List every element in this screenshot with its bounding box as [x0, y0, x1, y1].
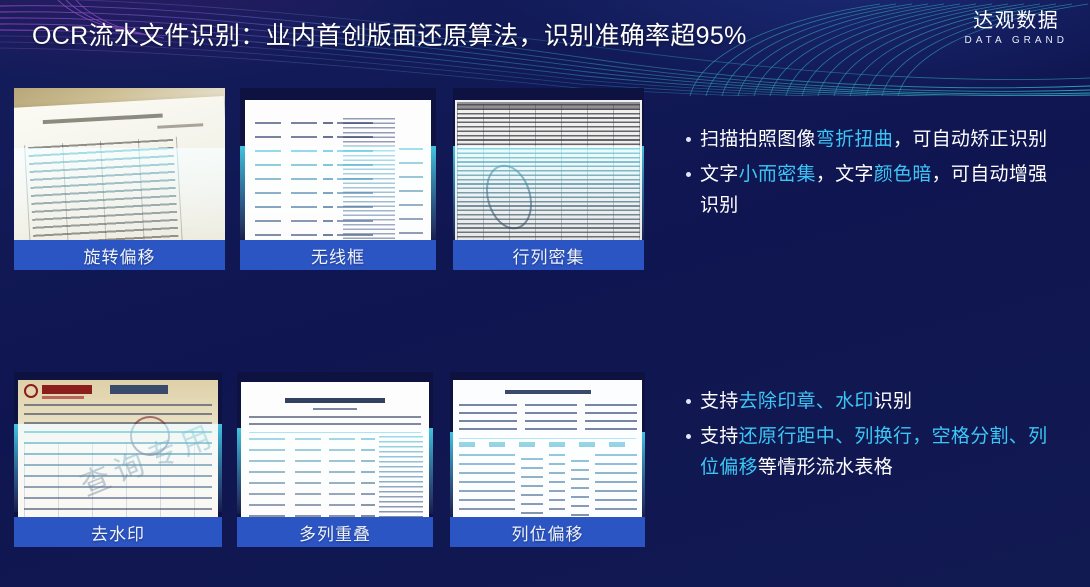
brand-logo-en: DATA GRAND: [964, 35, 1068, 46]
bullet-plain-span: 识别: [874, 391, 913, 412]
bullet-plain-span: 等情形流水表格: [758, 457, 893, 478]
slide-canvas: OCR流水文件识别：业内首创版面还原算法，识别准确率超95% 达观数据 DATA…: [0, 0, 1090, 587]
bullet-dot-icon: [686, 172, 691, 177]
card-remove-watermark[interactable]: 查询专用 去水印: [14, 372, 222, 547]
bullet-item: 支持去除印章、水印识别: [686, 386, 1066, 417]
bullet-highlight-span: 小而密集: [739, 164, 816, 185]
card-rotation-offset[interactable]: 旋转偏移: [14, 88, 225, 270]
bullet-highlight-span: 颜色暗: [874, 164, 932, 185]
brand-logo-cn: 达观数据: [964, 10, 1068, 33]
bullet-text: 支持还原行距中、列换行，空格分割、列位偏移等情形流水表格: [700, 421, 1066, 483]
brand-logo: 达观数据 DATA GRAND: [964, 10, 1068, 46]
card-column-shift[interactable]: 列位偏移: [450, 372, 645, 547]
bullet-highlight-span: 去除印章、水印: [739, 391, 874, 412]
bullet-plain-span: ，可自动矫正识别: [893, 129, 1047, 150]
bullet-text: 文字小而密集，文字颜色暗，可自动增强识别: [700, 159, 1058, 221]
bullet-list-top: 扫描拍照图像弯折扭曲，可自动矫正识别文字小而密集，文字颜色暗，可自动增强识别: [686, 124, 1058, 225]
bullet-text: 支持去除印章、水印识别: [700, 386, 912, 417]
bullet-plain-span: 扫描拍照图像: [700, 129, 816, 150]
card-caption: 多列重叠: [237, 517, 433, 547]
bullet-text: 扫描拍照图像弯折扭曲，可自动矫正识别: [700, 124, 1047, 155]
bullet-plain-span: ，文字: [816, 164, 874, 185]
bullet-dot-icon: [686, 434, 691, 439]
bullet-highlight-span: 弯折扭曲: [816, 129, 893, 150]
page-title: OCR流水文件识别：业内首创版面还原算法，识别准确率超95%: [32, 16, 747, 52]
card-caption: 旋转偏移: [14, 240, 225, 270]
bullet-item: 扫描拍照图像弯折扭曲，可自动矫正识别: [686, 124, 1058, 155]
card-borderless-table[interactable]: 无线框: [240, 88, 436, 270]
bullet-dot-icon: [686, 399, 691, 404]
bullet-plain-span: 支持: [700, 391, 739, 412]
card-caption: 列位偏移: [450, 517, 645, 547]
bullet-item: 文字小而密集，文字颜色暗，可自动增强识别: [686, 159, 1058, 221]
bullet-plain-span: 支持: [700, 426, 739, 447]
bullet-list-bottom: 支持去除印章、水印识别支持还原行距中、列换行，空格分割、列位偏移等情形流水表格: [686, 386, 1066, 487]
card-overlapping-columns[interactable]: 多列重叠: [237, 372, 433, 547]
card-caption: 行列密集: [453, 240, 644, 270]
card-caption: 无线框: [240, 240, 436, 270]
bullet-plain-span: 文字: [700, 164, 739, 185]
card-caption: 去水印: [14, 517, 222, 547]
bullet-item: 支持还原行距中、列换行，空格分割、列位偏移等情形流水表格: [686, 421, 1066, 483]
bullet-dot-icon: [686, 137, 691, 142]
card-dense-rows-columns[interactable]: 行列密集: [453, 88, 644, 270]
